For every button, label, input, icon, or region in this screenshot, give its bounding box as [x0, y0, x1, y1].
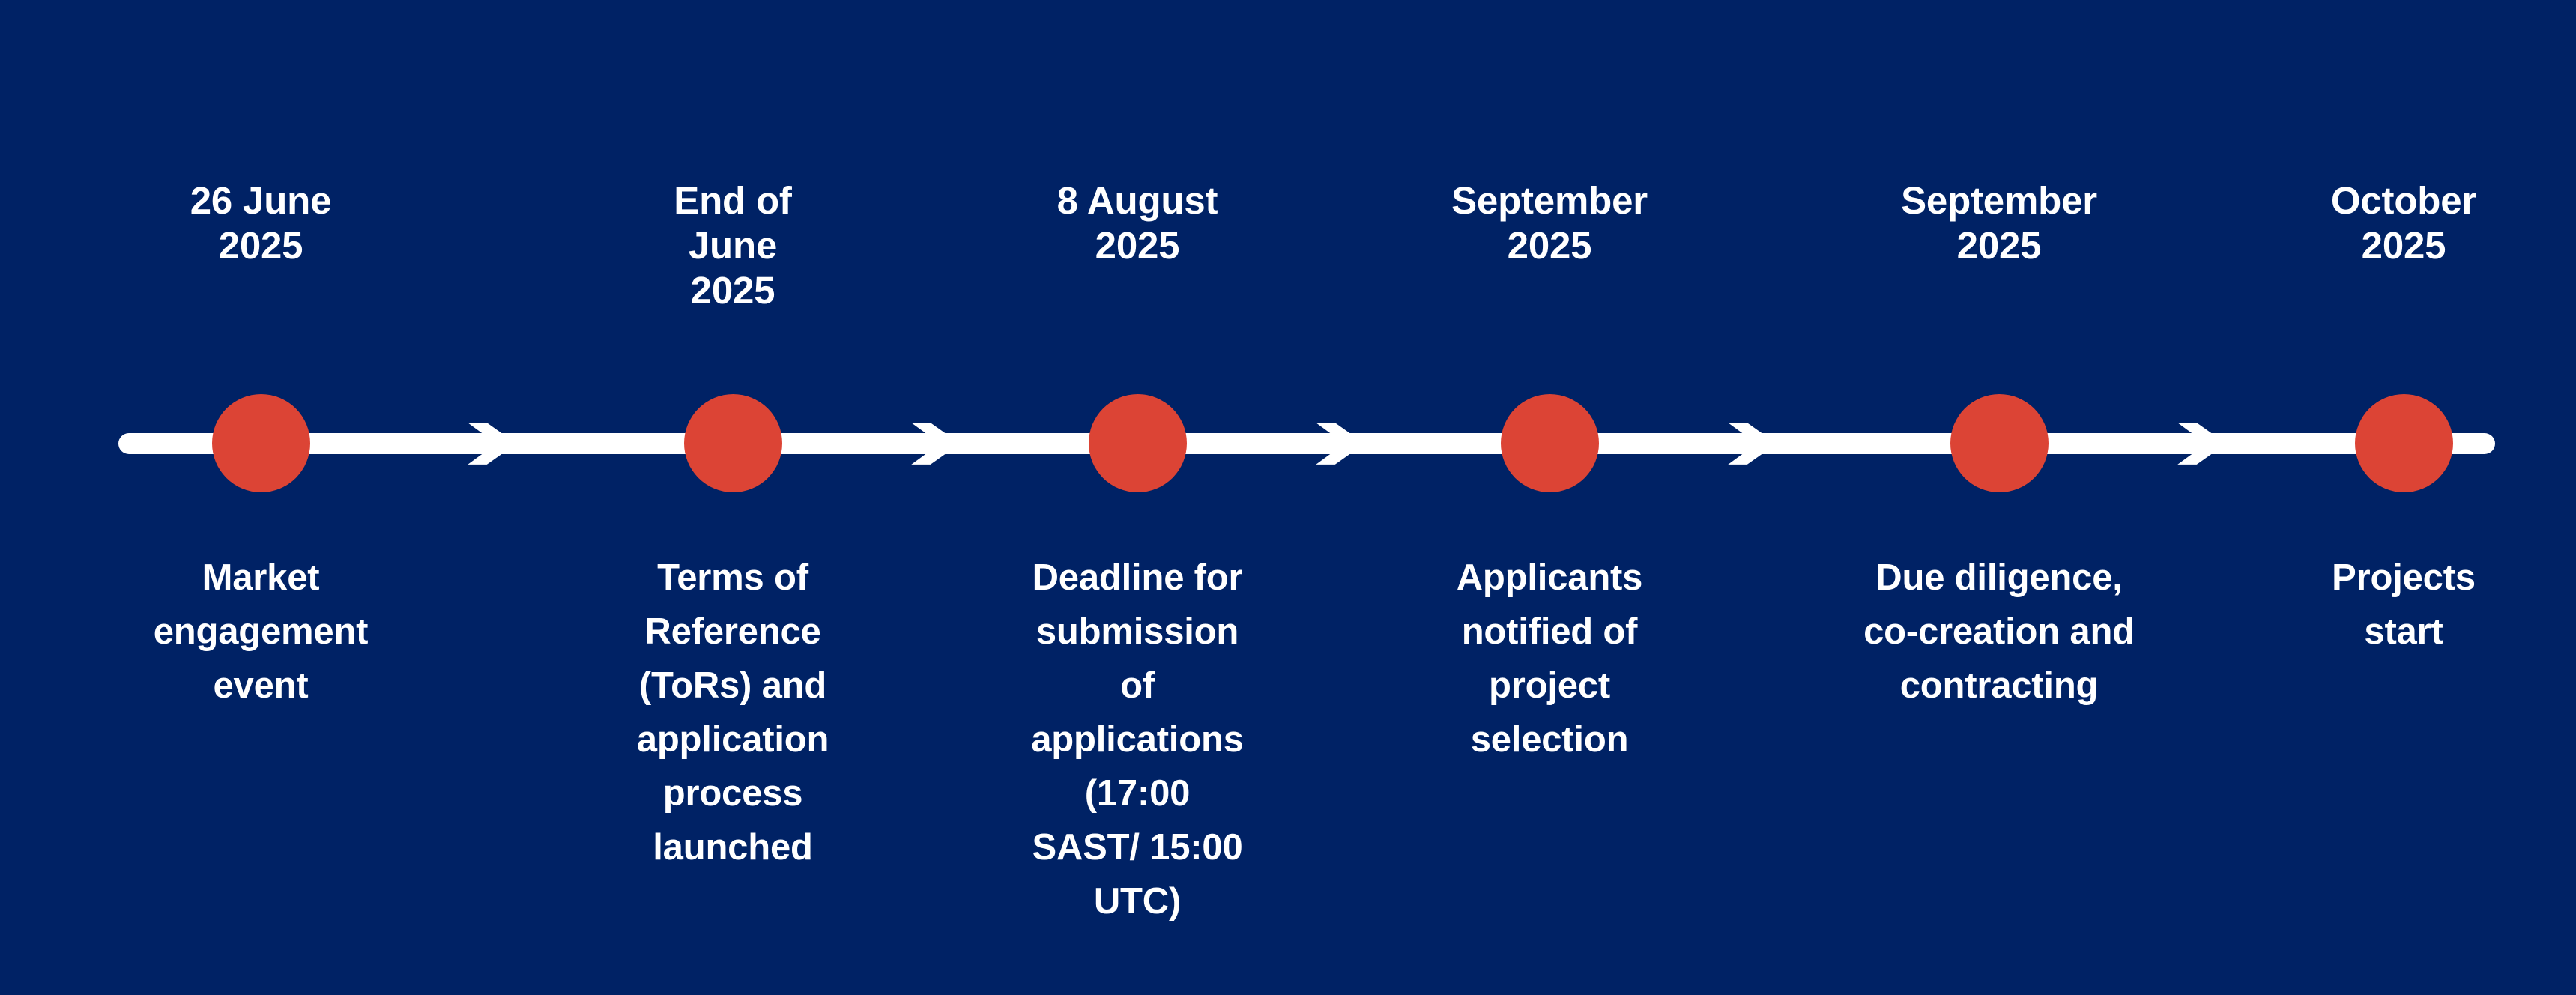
milestone-date: 8 August2025 [1006, 178, 1269, 268]
milestone-label: Terms ofReference(ToRs) andapplicationpr… [617, 551, 849, 874]
arrow-right-chevron-icon [456, 400, 542, 487]
timeline-axis-layer [0, 0, 2576, 995]
arrow-right-chevron-icon [899, 400, 986, 487]
milestone-6[interactable]: October2025Projectsstart [2280, 0, 2527, 995]
milestone-2[interactable]: End ofJune2025Terms ofReference(ToRs) an… [617, 0, 849, 995]
milestone-date: September2025 [1426, 178, 1673, 268]
milestone-label: Due diligence,co-creation andcontracting [1823, 551, 2175, 713]
milestone-label: Deadline forsubmissionofapplications(17:… [1006, 551, 1269, 928]
milestone-label: Marketengagementevent [137, 551, 384, 713]
milestone-label: Applicantsnotified ofprojectselection [1426, 551, 1673, 766]
milestone-date: 26 June2025 [137, 178, 384, 268]
arrow-right-chevron-icon [1304, 400, 1391, 487]
milestone-5[interactable]: September2025Due diligence,co-creation a… [1823, 0, 2175, 995]
milestone-1[interactable]: 26 June2025Marketengagementevent [137, 0, 384, 995]
milestone-3[interactable]: 8 August2025Deadline forsubmissionofappl… [1006, 0, 1269, 995]
timeline-canvas: 26 June2025MarketengagementeventEnd ofJu… [0, 0, 2576, 995]
milestone-label: Projectsstart [2280, 551, 2527, 659]
milestone-date: End ofJune2025 [617, 178, 849, 314]
arrow-right-chevron-icon [1716, 400, 1803, 487]
arrow-right-chevron-icon [2165, 400, 2252, 487]
milestone-date: October2025 [2280, 178, 2527, 268]
milestone-date: September2025 [1823, 178, 2175, 268]
milestone-4[interactable]: September2025Applicantsnotified ofprojec… [1426, 0, 1673, 995]
